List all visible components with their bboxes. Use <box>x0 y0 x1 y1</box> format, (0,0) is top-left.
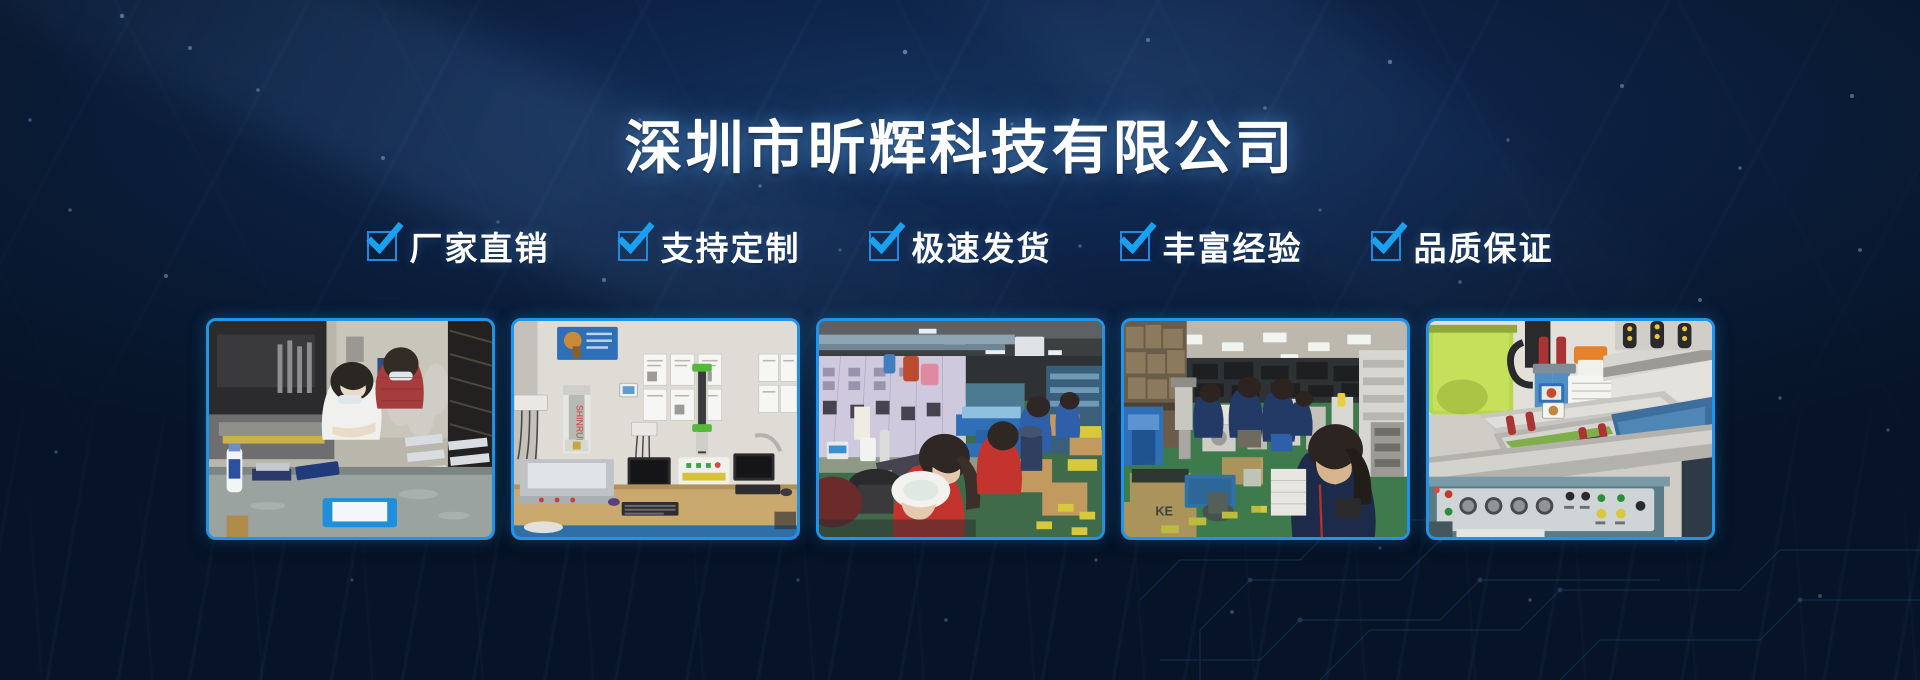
feature-badge-label: 丰富经验 <box>1163 222 1303 270</box>
check-square-icon <box>367 231 397 261</box>
feature-badge: 厂家直销 <box>367 222 550 270</box>
feature-badge-label: 支持定制 <box>661 222 801 270</box>
company-promo-banner: 深圳市昕辉科技有限公司 厂家直销 支持定制 <box>0 0 1920 680</box>
machinery-workshop-photo[interactable]: KE <box>1121 318 1410 540</box>
check-square-icon <box>1371 231 1401 261</box>
feature-badge: 极速发货 <box>869 222 1052 270</box>
testing-lab-photo[interactable]: SHINRUIN <box>511 318 800 540</box>
feature-badge: 支持定制 <box>618 222 801 270</box>
feature-badge: 品质保证 <box>1371 222 1554 270</box>
automatic-printer-photo[interactable] <box>1426 318 1715 540</box>
assembly-line-photo[interactable] <box>816 318 1105 540</box>
check-square-icon <box>1120 231 1150 261</box>
check-square-icon <box>618 231 648 261</box>
feature-badge-label: 品质保证 <box>1414 222 1554 270</box>
feature-badge-label: 厂家直销 <box>410 222 550 270</box>
factory-photo-gallery: SHINRUIN <box>0 318 1920 540</box>
feature-badge-label: 极速发货 <box>912 222 1052 270</box>
feature-badge-list: 厂家直销 支持定制 极速发货 <box>0 222 1920 270</box>
feature-badge: 丰富经验 <box>1120 222 1303 270</box>
check-square-icon <box>869 231 899 261</box>
screen-printing-workshop-photo[interactable] <box>206 318 495 540</box>
page-title: 深圳市昕辉科技有限公司 <box>0 101 1920 185</box>
